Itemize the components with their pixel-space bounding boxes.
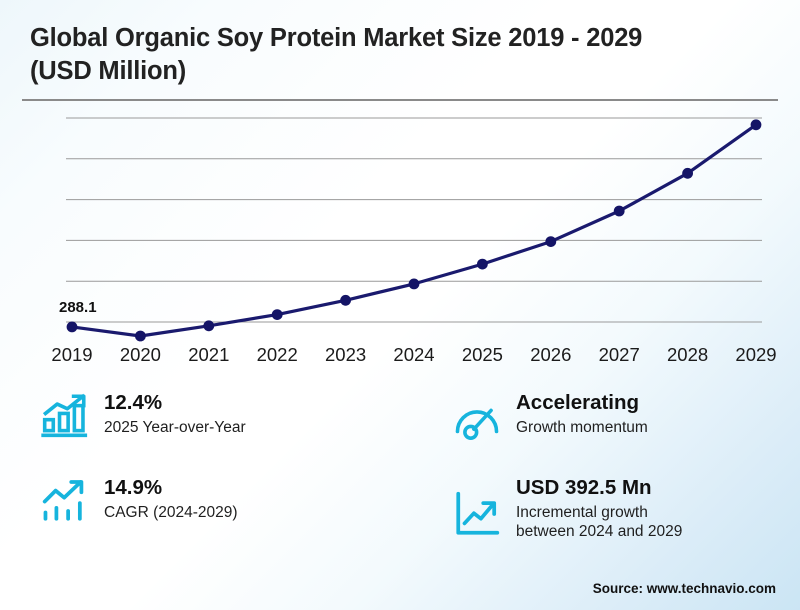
stat-value: Accelerating [516,391,648,415]
chart-data-point: 2019: 288.1 [67,322,78,333]
x-axis-tick-2021: 2021 [188,344,229,366]
stat-text: 14.9% CAGR (2024-2029) [104,475,238,522]
bar-chart-growth-icon [40,390,90,440]
chart-data-point: 2022: 318.2 [272,309,283,320]
x-axis-tick-2024: 2024 [393,344,434,366]
x-axis-tick-2029: 2029 [735,344,776,366]
chart-data-point: 2024: 393.3 [409,279,420,290]
chart-data-point: 2025: 442 [477,259,488,270]
chart-canvas: 2019: 288.12020: 265.62021: 290.62022: 3… [0,108,800,370]
line-chart: 2019: 288.12020: 265.62021: 290.62022: 3… [0,108,800,370]
stat-caption: Growth momentum [516,418,648,437]
stat-value: USD 392.5 Mn [516,476,682,500]
chart-data-point: 2023: 353.2 [340,295,351,306]
stat-card-momentum: Accelerating Growth momentum [452,390,648,444]
x-axis-tick-labels: 2019202020212022202320242025202620272028… [0,344,800,372]
chart-data-point: 2029: 783.3 [751,119,762,130]
stat-text: 12.4% 2025 Year-over-Year [104,390,246,437]
line-chart-arrow-icon [452,489,502,539]
stat-caption: CAGR (2024-2029) [104,503,238,522]
stat-card-yoy: 12.4% 2025 Year-over-Year [40,390,246,440]
x-axis-tick-2025: 2025 [462,344,503,366]
infographic-page: Global Organic Soy Protein Market Size 2… [0,0,800,610]
chart-markers: 2019: 288.12020: 265.62021: 290.62022: 3… [67,119,762,341]
x-axis-tick-2023: 2023 [325,344,366,366]
chart-data-point: 2027: 572 [614,206,625,217]
stat-value: 14.9% [104,476,238,500]
page-title: Global Organic Soy Protein Market Size 2… [30,22,670,88]
x-axis-tick-2020: 2020 [120,344,161,366]
x-axis-tick-2022: 2022 [257,344,298,366]
stat-caption: 2025 Year-over-Year [104,418,246,437]
stat-text: USD 392.5 Mn Incremental growth between … [516,475,682,541]
header-divider [22,99,778,101]
chart-data-point: 2028: 664.5 [682,168,693,179]
x-axis-tick-2026: 2026 [530,344,571,366]
stat-value: 12.4% [104,391,246,415]
chart-data-point: 2021: 290.6 [203,320,214,331]
x-axis-tick-2027: 2027 [599,344,640,366]
x-axis-tick-2028: 2028 [667,344,708,366]
stat-caption: Incremental growth between 2024 and 2029 [516,503,682,541]
stat-text: Accelerating Growth momentum [516,390,648,437]
chart-series-line [72,125,756,336]
stat-card-cagr: 14.9% CAGR (2024-2029) [40,475,238,525]
chart-data-point: 2026: 497 [545,236,556,247]
data-point-label: 288.1 [59,299,97,316]
x-axis-tick-2019: 2019 [51,344,92,366]
chart-data-point: 2020: 265.6 [135,331,146,342]
stat-card-incremental: USD 392.5 Mn Incremental growth between … [452,475,682,541]
speedometer-icon [452,394,502,444]
stats-grid: 12.4% 2025 Year-over-Year 14.9% CAGR (20… [0,382,800,562]
chart-gridlines [66,118,762,322]
header: Global Organic Soy Protein Market Size 2… [30,22,770,88]
source-credit: Source: www.technavio.com [593,581,776,596]
trending-up-bars-icon [40,475,90,525]
